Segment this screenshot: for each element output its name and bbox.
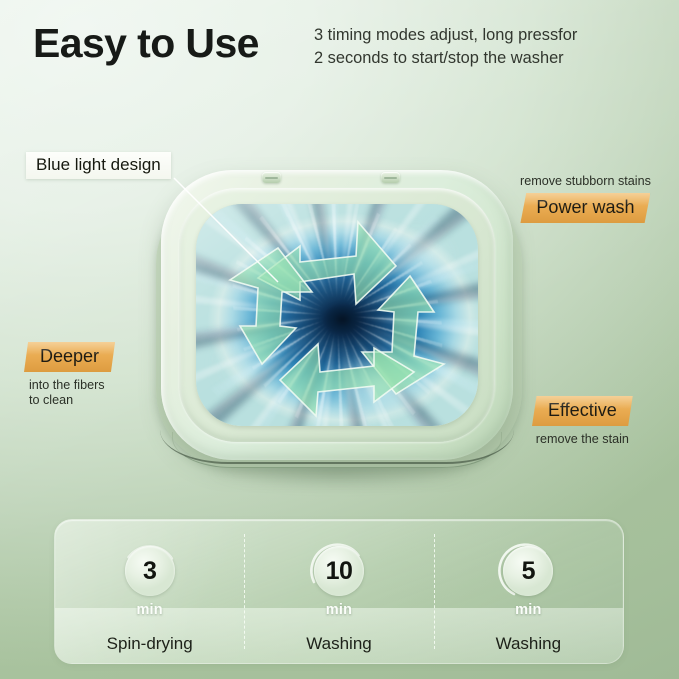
- lid-hinge-right: [381, 172, 400, 183]
- timer-minutes-1: 3: [143, 559, 156, 584]
- timer-dial-1[interactable]: 3: [121, 542, 179, 600]
- callout-deeper-note: into the fibers to clean: [29, 378, 115, 408]
- timer-mode-label-2: Washing: [306, 634, 372, 654]
- callout-leader-line-blue-light: [174, 178, 286, 290]
- timer-modes-panel: 3 min Spin-drying 10 min Washing: [54, 519, 624, 664]
- callout-blue-light-label: Blue light design: [26, 152, 171, 179]
- timer-mode-cell-3[interactable]: 5 min Washing: [434, 520, 623, 663]
- header-subtitle: 3 timing modes adjust, long pressfor 2 s…: [314, 24, 577, 70]
- callout-power-wash-label: Power wash: [520, 193, 650, 223]
- callout-deeper-note-line-1: into the fibers: [29, 378, 115, 393]
- timer-mode-label-3: Washing: [496, 634, 562, 654]
- callout-effective-note: remove the stain: [532, 432, 633, 447]
- timer-mode-cell-1[interactable]: 3 min Spin-drying: [55, 520, 244, 663]
- callout-blue-light-design: Blue light design: [26, 152, 171, 179]
- header-subtitle-line-2: 2 seconds to start/stop the washer: [314, 47, 577, 70]
- callout-effective-text: Effective: [548, 400, 617, 420]
- timer-mode-cell-2[interactable]: 10 min Washing: [244, 520, 433, 663]
- timer-dial-face-1: 3: [125, 546, 175, 596]
- lid-seam-lower: [160, 424, 514, 464]
- callout-effective: Effective remove the stain: [532, 396, 633, 447]
- timer-dial-face-3: 5: [503, 546, 553, 596]
- callout-deeper-label: Deeper: [24, 342, 115, 372]
- callout-power-wash: remove stubborn stains Power wash: [520, 174, 651, 223]
- timer-minutes-2: 10: [326, 559, 353, 584]
- infographic-poster: Easy to Use 3 timing modes adjust, long …: [0, 0, 679, 679]
- header: Easy to Use 3 timing modes adjust, long …: [0, 0, 679, 110]
- callout-deeper: Deeper into the fibers to clean: [24, 342, 115, 408]
- callout-power-wash-text: Power wash: [536, 197, 634, 217]
- timer-mode-label-1: Spin-drying: [107, 634, 193, 654]
- callout-power-wash-note: remove stubborn stains: [520, 174, 651, 189]
- page-title: Easy to Use: [33, 20, 259, 67]
- header-subtitle-line-1: 3 timing modes adjust, long pressfor: [314, 24, 577, 47]
- timer-dial-face-2: 10: [314, 546, 364, 596]
- callout-deeper-note-line-2: to clean: [29, 393, 115, 408]
- callout-effective-label: Effective: [532, 396, 633, 426]
- callout-deeper-text: Deeper: [40, 346, 99, 366]
- timer-dial-3[interactable]: 5: [499, 542, 557, 600]
- timer-minutes-3: 5: [522, 559, 535, 584]
- timer-dial-2[interactable]: 10: [310, 542, 368, 600]
